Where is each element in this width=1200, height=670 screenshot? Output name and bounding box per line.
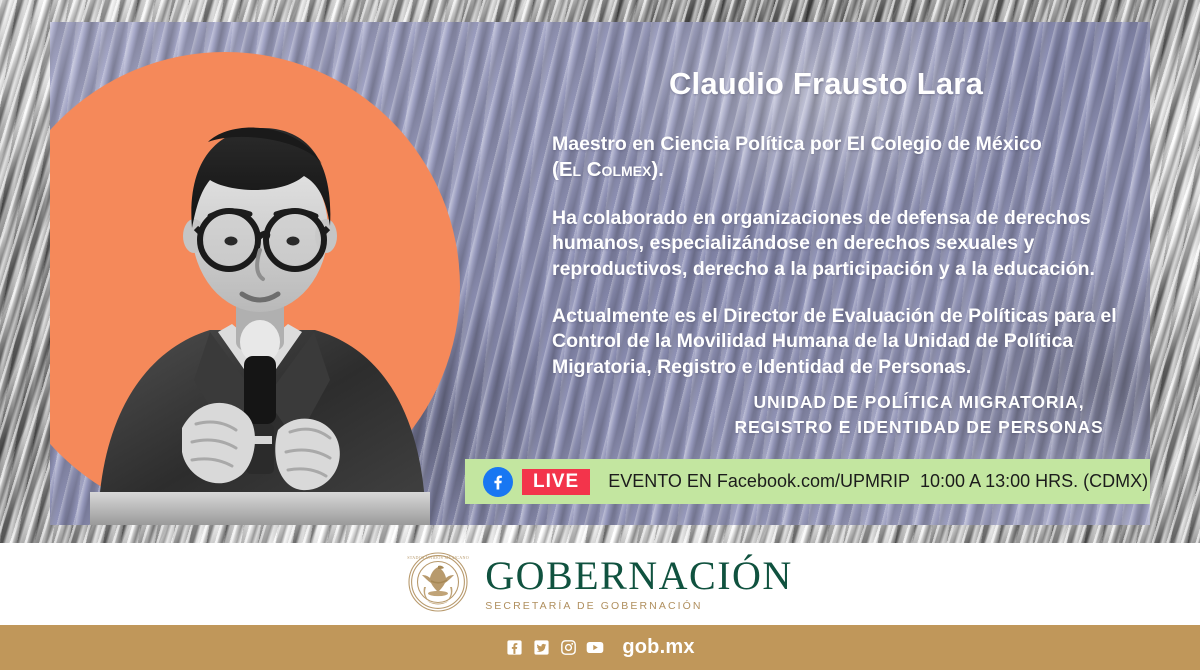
organization-name: UNIDAD DE POLÍTICA MIGRATORIA, REGISTRO … [704, 390, 1134, 440]
speaker-name-text: Claudio Frausto Lara [669, 66, 983, 101]
live-event-text: EVENTO EN Facebook.com/UPMRIP 10:00 A 13… [608, 471, 1148, 492]
bio-paragraph-experience: Ha colaborado en organizaciones de defen… [552, 206, 1150, 282]
bio-line-degree: Maestro en Ciencia Política por El Coleg… [552, 133, 1042, 155]
organization-line-2: REGISTRO E IDENTIDAD DE PERSONAS [734, 417, 1103, 437]
gobernacion-subtitle: SECRETARÍA DE GOBERNACIÓN [485, 601, 793, 612]
live-badge: LIVE [522, 469, 590, 495]
youtube-icon[interactable] [586, 639, 604, 657]
bio-paragraph-education: Maestro en Ciencia Política por El Coleg… [552, 132, 1150, 184]
facebook-icon[interactable] [505, 639, 523, 657]
event-time-prefix: 10:00 A 13:00 HRS. ( [920, 471, 1089, 491]
gobernacion-wordmark: GOBERNACIÓN SECRETARÍA DE GOBERNACIÓN [485, 556, 793, 612]
poster-stage: Claudio Frausto Lara Maestro en Ciencia … [0, 0, 1200, 670]
gobernacion-title: GOBERNACIÓN [485, 556, 793, 596]
svg-text:ESTADOS UNIDOS MEXICANOS: ESTADOS UNIDOS MEXICANOS [407, 554, 469, 559]
gob-footer-bar: gob.mx [0, 625, 1200, 670]
facebook-icon[interactable] [483, 467, 513, 497]
event-time-suffix: ) [1142, 471, 1148, 491]
speaker-name: Claudio Frausto Lara [502, 66, 1150, 102]
organization-line-1: UNIDAD DE POLÍTICA MIGRATORIA, [754, 392, 1085, 412]
event-prefix: EVENTO EN Facebook.com/ [608, 471, 840, 491]
twitter-icon[interactable] [532, 639, 550, 657]
bio-paragraph-current-role: Actualmente es el Director de Evaluación… [552, 304, 1150, 380]
bio-line-colmex: (El Colmex). [552, 158, 664, 181]
speaker-portrait [90, 80, 430, 525]
speaker-card: Claudio Frausto Lara Maestro en Ciencia … [50, 22, 1150, 525]
event-handle: UPMRIP [840, 471, 910, 491]
gob-mx-link[interactable]: gob.mx [622, 636, 694, 659]
live-event-bar: LIVE EVENTO EN Facebook.com/UPMRIP 10:00… [465, 459, 1150, 504]
event-timezone: CDMX [1089, 471, 1142, 491]
gobernacion-logo: ESTADOS UNIDOS MEXICANOS [407, 551, 793, 618]
gobernacion-logo-band: ESTADOS UNIDOS MEXICANOS [0, 543, 1200, 625]
mexican-coat-of-arms-icon: ESTADOS UNIDOS MEXICANOS [407, 551, 469, 618]
instagram-icon[interactable] [559, 639, 577, 657]
